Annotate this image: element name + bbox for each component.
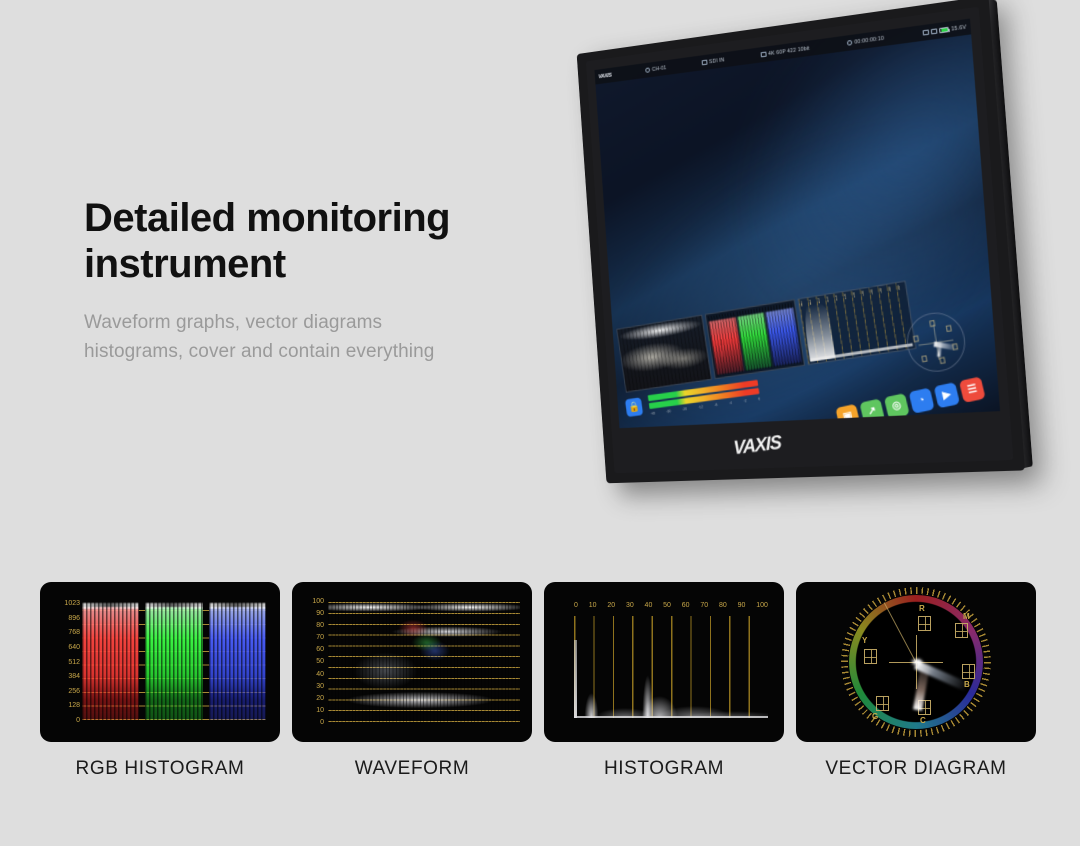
screen-histogram-floor [810,343,913,362]
axis-tick: 1023 [64,600,80,607]
vector-center-hotspot [912,659,922,665]
waveform-color-trace [397,620,451,661]
hero-copy: Detailed monitoring instrument Waveform … [84,196,554,367]
headline-line-1: Detailed monitoring [84,196,554,242]
vector-target-r [918,616,931,631]
audio-scale-tick: -2 [743,398,747,402]
audio-scale-tick: -4 [729,400,733,404]
status-spacer-5 [884,33,923,38]
vectorscope-target-g [921,355,927,362]
status-format-label: 4K 60P 422 10bit [768,45,810,57]
axis-tick: 60 [316,646,324,653]
axis-tick: 896 [68,615,80,622]
axis-tick: 70 [700,602,708,609]
page-root: Detailed monitoring instrument Waveform … [0,0,1080,846]
screen-histogram-ticks [801,284,904,306]
axis-tick: 10 [316,707,324,714]
audio-scale-tick: 0 [758,396,760,400]
axis-tick: 0 [76,717,80,724]
axis-tick: 40 [645,602,653,609]
screen-rgb-parade-scope[interactable] [705,299,805,379]
waveform-trace [328,600,520,722]
axis-tick: 90 [316,610,324,617]
parade-column-red [708,312,744,376]
status-spacer-2 [667,63,702,68]
monitor-bezel: VAXIS CH-01 SDI IN [586,7,1014,474]
axis-tick: 100 [312,598,324,605]
axis-tick: 50 [316,658,324,665]
monitor-stage: VAXIS CH-01 SDI IN [508,18,1028,528]
page-title: Detailed monitoring instrument [84,196,554,287]
status-spacer-1 [612,70,646,75]
histogram-panel[interactable]: 0 10 20 30 40 50 60 70 80 90 100 [544,582,784,742]
vector-target-b [962,664,975,679]
crop-tool-button[interactable]: ▣ [835,404,860,428]
histogram-axis: 0 10 20 30 40 50 60 70 80 90 100 [574,602,768,609]
vectorscope-target-m [946,325,952,332]
headline-line-2: instrument [84,242,554,288]
vectorscope-target-b [952,344,958,351]
rgb-column-blue [209,602,266,720]
vectorscope-target-c [939,357,945,364]
axis-tick: 30 [316,683,324,690]
subcopy-line-2: histograms, cover and contain everything [84,338,554,367]
lut-icon [923,29,930,35]
axis-tick: 768 [68,629,80,636]
monitor-screen: VAXIS CH-01 SDI IN [594,19,1000,429]
waveform-tool-button[interactable]: ↗ [859,398,884,424]
vectorscope-trace-vertical [937,340,942,357]
screen-vectorscope[interactable] [903,308,970,375]
status-timecode-label: 00:00:00:10 [854,35,884,45]
screen-histogram-curve [801,299,835,362]
vectorscope-crosshair-h [918,339,953,345]
vectorscope-crosshair-v [933,324,940,360]
rgb-column-green [145,602,202,720]
status-input-label: SDI IN [709,57,725,65]
status-spacer-3 [724,55,760,60]
status-power: 15.6V [923,24,967,36]
vector-target-g [876,696,889,711]
screen-parade-columns [708,303,802,376]
rgb-histogram-axis: 1023 896 768 640 512 384 256 128 0 [54,600,80,724]
vector-target-label-m: M [963,612,970,621]
waveform-plot [328,600,520,722]
histogram-baseline [574,716,768,718]
axis-tick: 0 [574,602,578,609]
axis-tick: 10 [589,602,597,609]
timecode-icon [847,40,852,46]
rgb-column-blue-streak [209,602,266,720]
axis-tick: 60 [682,602,690,609]
axis-tick: 40 [316,671,324,678]
audio-scale-tick: -12 [698,404,703,409]
vector-tool-button[interactable]: ◔ [909,388,935,414]
vector-target-label-g: G [872,712,878,721]
axis-tick: 30 [626,602,634,609]
field-monitor: VAXIS CH-01 SDI IN [577,0,1025,483]
status-format: 4K 60P 422 10bit [760,45,809,58]
histogram-panel-wrap: 0 10 20 30 40 50 60 70 80 90 100 [544,582,784,780]
rgb-histogram-panel-wrap: 1023 896 768 640 512 384 256 128 0 [40,582,280,780]
axis-tick: 20 [316,695,324,702]
vector-target-label-y: Y [862,636,867,645]
waveform-panel[interactable]: 100 90 80 70 60 50 40 30 20 10 0 [292,582,532,742]
waveform-caption: WAVEFORM [292,758,532,780]
vectorscope-trace-main [933,341,954,350]
sdi-icon [702,60,708,66]
rgb-histogram-plot [82,602,266,720]
vector-target-y [864,649,877,664]
axis-tick: 0 [320,719,324,726]
rgb-histogram-panel[interactable]: 1023 896 768 640 512 384 256 128 0 [40,582,280,742]
rgb-column-red-streak [82,602,139,720]
vaxis-logo: VAXIS [733,432,782,460]
vector-target-m [955,623,968,638]
vector-target-label-c: C [920,716,926,725]
hdr-icon [931,28,938,34]
format-icon [761,52,767,58]
screen-waveform-trace [617,316,711,392]
histogram-shape [574,616,768,718]
status-channel-label: CH-01 [652,65,667,73]
status-timecode: 00:00:00:10 [847,35,884,46]
waveform-panel-wrap: 100 90 80 70 60 50 40 30 20 10 0 [292,582,532,780]
status-brand: VAXIS [598,72,611,80]
battery-icon [940,26,950,33]
waveform-axis: 100 90 80 70 60 50 40 30 20 10 0 [304,598,324,726]
screen-histogram-grid [799,282,916,364]
audio-scale-tick: -40 [650,411,655,416]
audio-scale-tick: -20 [682,406,687,411]
axis-tick: 80 [719,602,727,609]
vector-diagram-caption: VECTOR DIAGRAM [796,758,1036,780]
status-bar: VAXIS CH-01 SDI IN [594,19,971,85]
status-voltage-label: 15.6V [951,24,967,32]
status-input: SDI IN [702,57,725,66]
axis-tick: 384 [68,673,80,680]
histogram-plot [574,616,768,718]
parade-column-blue [765,303,802,368]
axis-tick: 512 [68,659,80,666]
feature-panels: 1023 896 768 640 512 384 256 128 0 [40,582,1036,780]
axis-tick: 70 [316,634,324,641]
axis-tick: 20 [607,602,615,609]
axis-tick: 100 [756,602,768,609]
vectorscope-target-r [929,321,935,328]
status-channel: CH-01 [646,65,667,74]
focus-tool-button[interactable]: ◎ [884,393,910,419]
vector-diagram-panel[interactable]: R M B C G Y [796,582,1036,742]
axis-tick: 90 [738,602,746,609]
status-spacer-4 [810,43,848,48]
rgb-column-red [82,602,139,720]
vectorscope-target-y [913,336,919,343]
rgb-histogram-caption: RGB HISTOGRAM [40,758,280,780]
histogram-black-spike [574,640,577,718]
axis-tick: 256 [68,688,80,695]
axis-tick: 80 [316,622,324,629]
signal-icon [646,67,651,72]
lock-icon[interactable]: 🔒 [625,397,643,417]
rgb-column-green-streak [145,602,202,720]
axis-tick: 50 [663,602,671,609]
screen-toolbar: ▣ ↗ ◎ ◔ ▶ ☰ [835,376,985,428]
axis-tick: 128 [68,702,80,709]
playback-tool-button[interactable]: ▶ [934,382,960,408]
hero-subcopy: Waveform graphs, vector diagrams histogr… [84,309,554,367]
screen-scopes-group [616,281,916,393]
histogram-caption: HISTOGRAM [544,758,784,780]
rgb-histogram-columns [82,602,266,720]
menu-tool-button[interactable]: ☰ [959,376,986,402]
axis-tick: 640 [68,644,80,651]
audio-scale-tick: -8 [714,402,718,406]
vector-target-label-r: R [919,604,925,613]
vector-diagram-panel-wrap: R M B C G Y VECTOR DIAGRAM [796,582,1036,780]
audio-scale-tick: -30 [666,409,671,414]
parade-column-green [736,307,772,371]
screen-histogram-scope[interactable] [797,281,916,366]
subcopy-line-1: Waveform graphs, vector diagrams [84,309,554,338]
